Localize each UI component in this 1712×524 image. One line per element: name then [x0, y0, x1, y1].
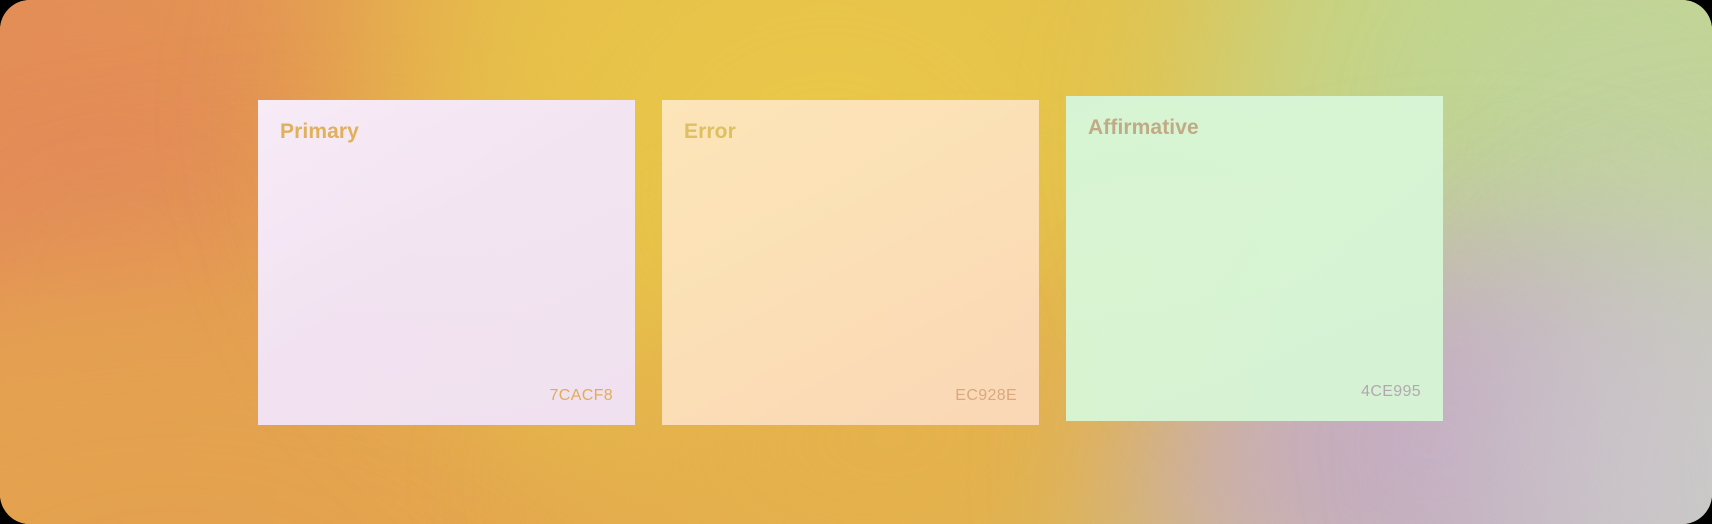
swatch-hex-label: EC928E — [684, 387, 1017, 405]
swatch-card-primary[interactable]: Primary 7CACF8 — [258, 100, 635, 425]
swatch-card-group: Primary 7CACF8 Error EC928E Affirmative … — [0, 0, 1712, 524]
swatch-hex-label: 4CE995 — [1088, 383, 1421, 401]
swatch-title: Primary — [280, 120, 613, 143]
palette-canvas: Primary 7CACF8 Error EC928E Affirmative … — [0, 0, 1712, 524]
swatch-title: Affirmative — [1088, 116, 1421, 139]
swatch-hex-label: 7CACF8 — [280, 387, 613, 405]
swatch-title: Error — [684, 120, 1017, 143]
swatch-card-error[interactable]: Error EC928E — [662, 100, 1039, 425]
swatch-card-affirmative[interactable]: Affirmative 4CE995 — [1066, 96, 1443, 421]
